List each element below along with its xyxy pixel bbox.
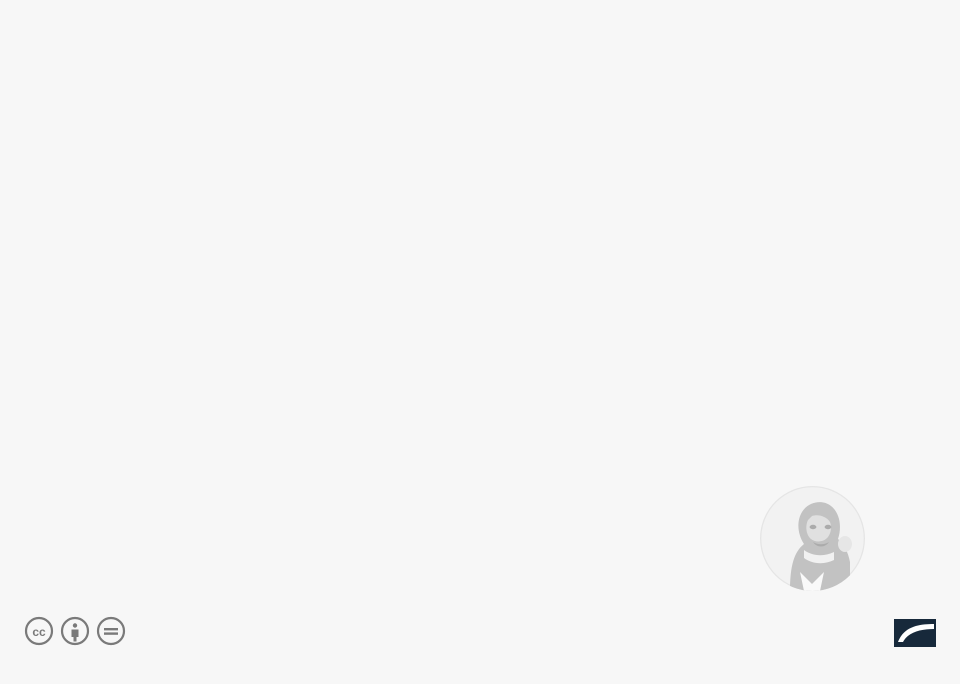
infographic-root: cc (0, 0, 960, 684)
statista-logo-mark (894, 616, 936, 650)
statista-logo (889, 616, 936, 650)
attribution-icon (60, 616, 90, 646)
svg-text:cc: cc (32, 625, 46, 639)
no-derivatives-icon (96, 616, 126, 646)
putin-portrait-watermark (760, 486, 865, 591)
creative-commons-icons: cc (24, 616, 126, 646)
footer: cc (24, 616, 936, 676)
cc-icon: cc (24, 616, 54, 646)
